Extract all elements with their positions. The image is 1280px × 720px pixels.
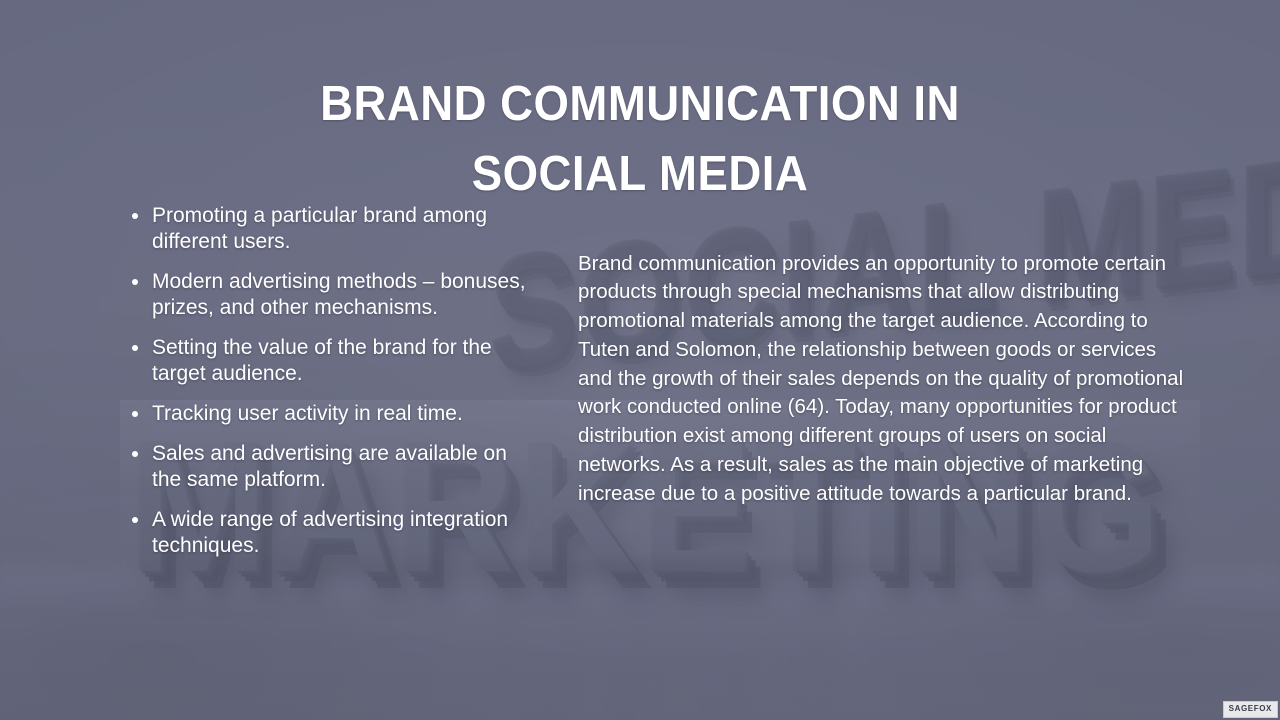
presentation-slide: SOCIAL MEDIA MARKETING BRAND COMMUNICATI… [0,0,1280,720]
list-item-label: Setting the value of the brand for the t… [152,336,492,385]
slide-title: BRAND COMMUNICATION IN SOCIAL MEDIA [184,69,1095,209]
list-item-label: Modern advertising methods – bonuses, pr… [152,270,526,319]
list-item-label: Promoting a particular brand among diffe… [152,204,487,253]
bullet-point-icon [132,279,138,285]
list-item-label: Sales and advertising are available on t… [152,442,507,491]
bullet-point-icon [132,451,138,457]
list-item-label: A wide range of advertising integration … [152,508,508,557]
bullet-point-icon [132,345,138,351]
list-item: A wide range of advertising integration … [126,507,536,559]
bullet-list: Promoting a particular brand among diffe… [126,203,536,559]
list-item: Sales and advertising are available on t… [126,441,536,493]
list-item-label: Tracking user activity in real time. [152,402,463,425]
slide-title-line-2: SOCIAL MEDIA [184,139,1095,209]
bullet-point-icon [132,411,138,417]
bullet-point-icon [132,517,138,523]
list-item: Setting the value of the brand for the t… [126,335,536,387]
slide-title-line-1: BRAND COMMUNICATION IN [184,69,1095,139]
bullet-point-icon [132,213,138,219]
list-item: Tracking user activity in real time. [126,401,536,427]
sagefox-watermark: SAGEFOX [1223,701,1278,718]
slide-content: BRAND COMMUNICATION IN SOCIAL MEDIA Prom… [0,0,1280,720]
list-item: Promoting a particular brand among diffe… [126,203,536,255]
list-item: Modern advertising methods – bonuses, pr… [126,269,536,321]
body-paragraph: Brand communication provides an opportun… [578,250,1192,509]
